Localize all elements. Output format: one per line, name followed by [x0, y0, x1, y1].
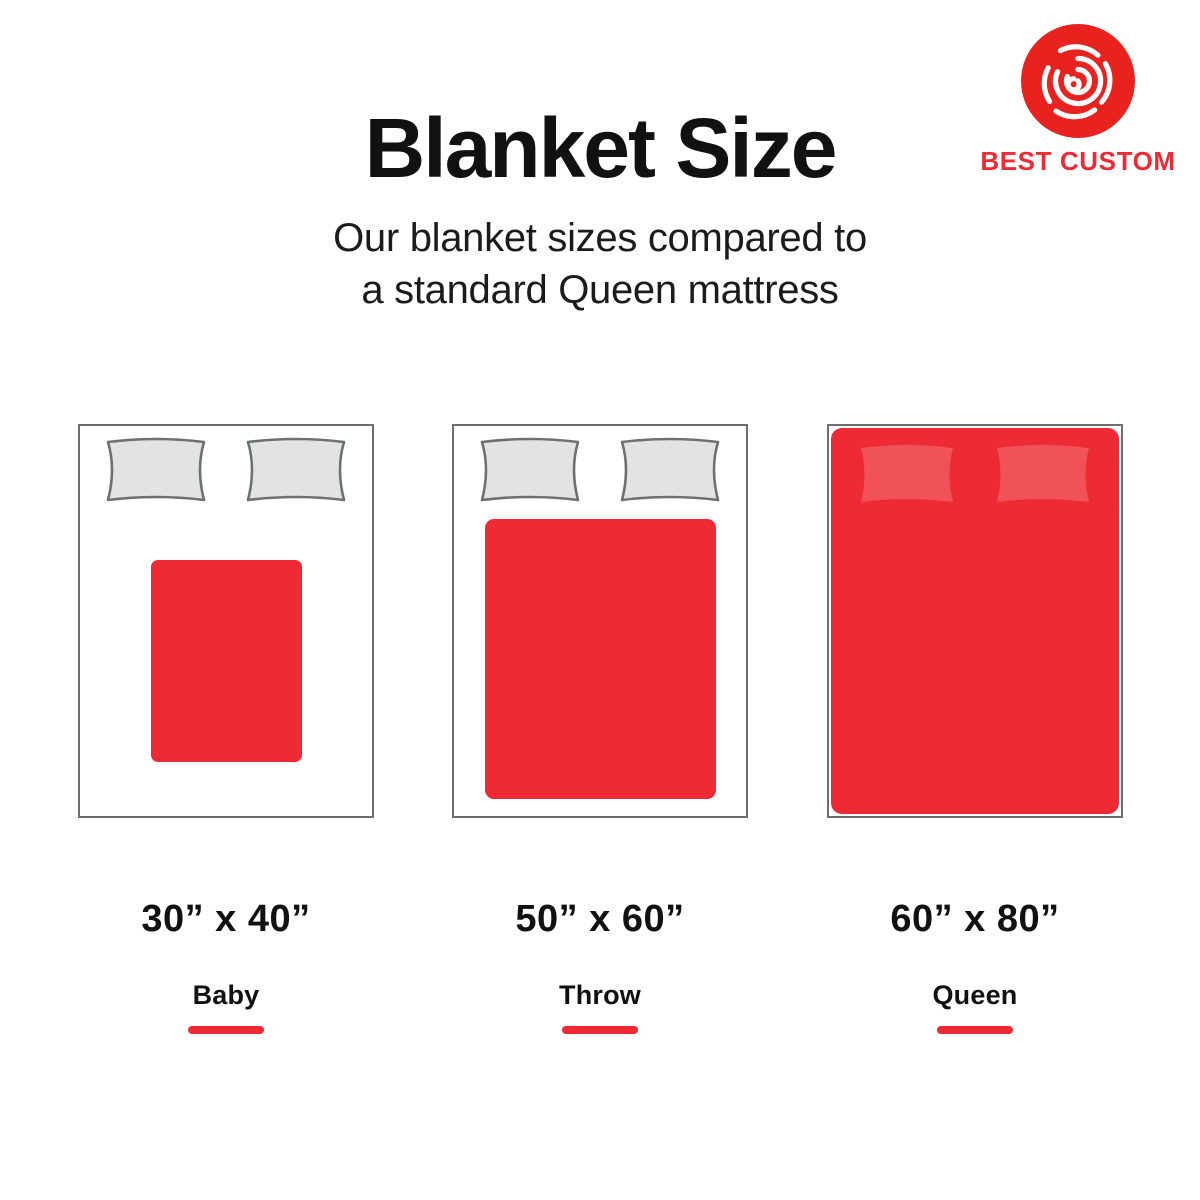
page-subtitle: Our blanket sizes compared to a standard…: [0, 212, 1200, 316]
caption-underline-bar: [937, 1026, 1013, 1034]
caption-dimensions: 30” x 40”: [78, 900, 374, 938]
caption-throw: 50” x 60” Throw: [452, 900, 748, 1034]
caption-baby: 30” x 40” Baby: [78, 900, 374, 1034]
pillow-left-icon: [108, 439, 204, 500]
caption-underline-bar: [562, 1026, 638, 1034]
page-subtitle-line-1: Our blanket sizes compared to: [0, 212, 1200, 264]
blanket-rect-throw: [485, 519, 716, 799]
caption-underline-bar: [188, 1026, 264, 1034]
blanket-rect-baby: [151, 560, 302, 762]
page-title: Blanket Size: [0, 106, 1200, 190]
caption-dimensions: 60” x 80”: [827, 900, 1123, 938]
header-block: Blanket Size Our blanket sizes compared …: [0, 106, 1200, 316]
caption-dimensions: 50” x 60”: [452, 900, 748, 938]
caption-size-name: Queen: [827, 982, 1123, 1009]
pillow-right-icon: [248, 439, 344, 500]
bed-graphic-queen: [827, 424, 1123, 818]
bed-diagram-baby: [78, 424, 374, 818]
bed-diagram-throw: [452, 424, 748, 818]
bed-graphic-baby: [78, 424, 374, 818]
caption-size-name: Baby: [78, 982, 374, 1009]
bed-diagram-queen: [827, 424, 1123, 818]
pillow-right-icon: [622, 439, 718, 500]
caption-row: 30” x 40” Baby 50” x 60” Throw 60” x 80”…: [0, 900, 1200, 1050]
pillow-right-icon: [997, 445, 1089, 502]
pillow-left-icon: [861, 445, 953, 502]
bed-graphic-throw: [452, 424, 748, 818]
caption-size-name: Throw: [452, 982, 748, 1009]
bed-comparison-row: [0, 424, 1200, 820]
page-subtitle-line-2: a standard Queen mattress: [0, 264, 1200, 316]
pillow-left-icon: [482, 439, 578, 500]
caption-queen: 60” x 80” Queen: [827, 900, 1123, 1034]
